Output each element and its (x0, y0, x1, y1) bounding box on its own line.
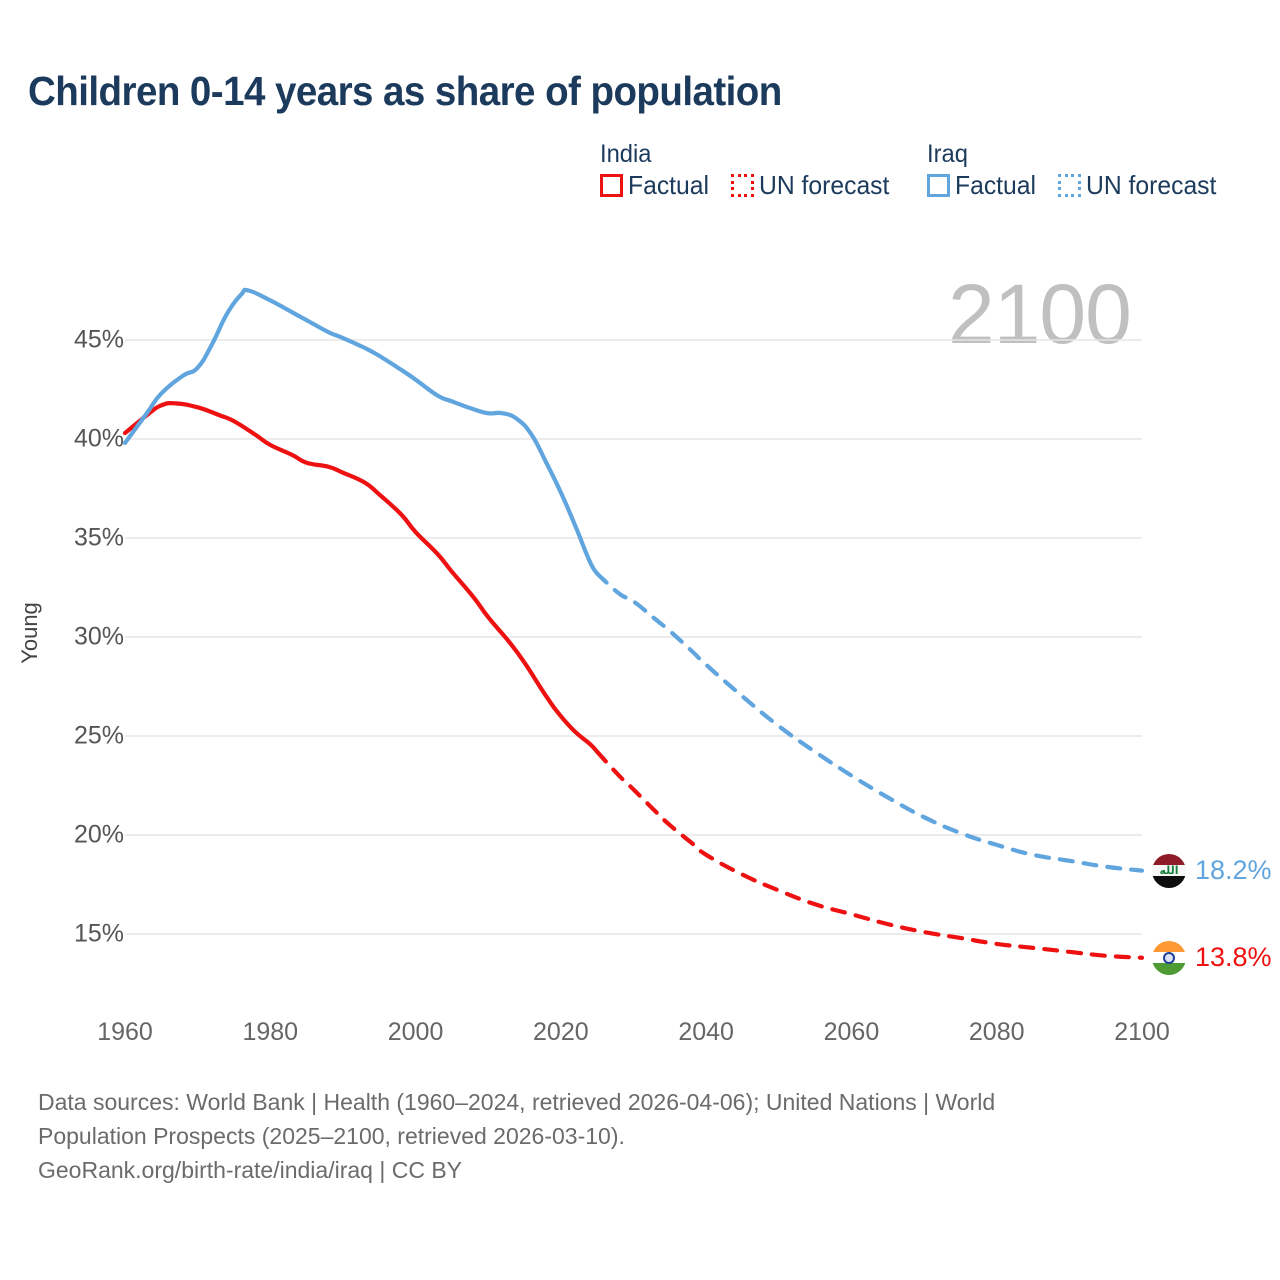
y-axis-label: Young (17, 602, 43, 664)
end-marker-india: 13.8% (1152, 941, 1272, 975)
footer-line-3: GeoRank.org/birth-rate/india/iraq | CC B… (38, 1153, 1238, 1187)
line-india-factual (125, 403, 597, 752)
line-india-forecast (597, 752, 1142, 958)
chart-root: Children 0-14 years as share of populati… (0, 0, 1280, 1280)
x-tick-label: 1980 (242, 1018, 298, 1047)
line-iraq-factual (125, 290, 597, 574)
footer-line-1: Data sources: World Bank | Health (1960–… (38, 1085, 1238, 1119)
line-iraq-forecast (597, 574, 1142, 871)
footer-sources: Data sources: World Bank | Health (1960–… (38, 1085, 1238, 1187)
x-tick-label: 2100 (1114, 1018, 1170, 1047)
y-tick-label: 20% (74, 821, 124, 850)
x-tick-label: 2020 (533, 1018, 589, 1047)
end-value-iraq: 18.2% (1195, 857, 1272, 884)
x-tick-label: 2040 (678, 1018, 734, 1047)
y-tick-label: 45% (74, 326, 124, 355)
y-tick-label: 25% (74, 722, 124, 751)
end-marker-iraq: الله 18.2% (1152, 854, 1272, 888)
footer-line-2: Population Prospects (2025–2100, retriev… (38, 1119, 1238, 1153)
x-tick-label: 2060 (824, 1018, 880, 1047)
end-value-india: 13.8% (1195, 944, 1272, 971)
iraq-flag-icon: الله (1152, 854, 1186, 888)
x-tick-label: 2000 (388, 1018, 444, 1047)
y-tick-label: 35% (74, 524, 124, 553)
x-tick-label: 2080 (969, 1018, 1025, 1047)
india-flag-icon (1152, 941, 1186, 975)
y-tick-label: 40% (74, 425, 124, 454)
y-tick-label: 15% (74, 920, 124, 949)
x-tick-label: 1960 (97, 1018, 153, 1047)
y-tick-label: 30% (74, 623, 124, 652)
